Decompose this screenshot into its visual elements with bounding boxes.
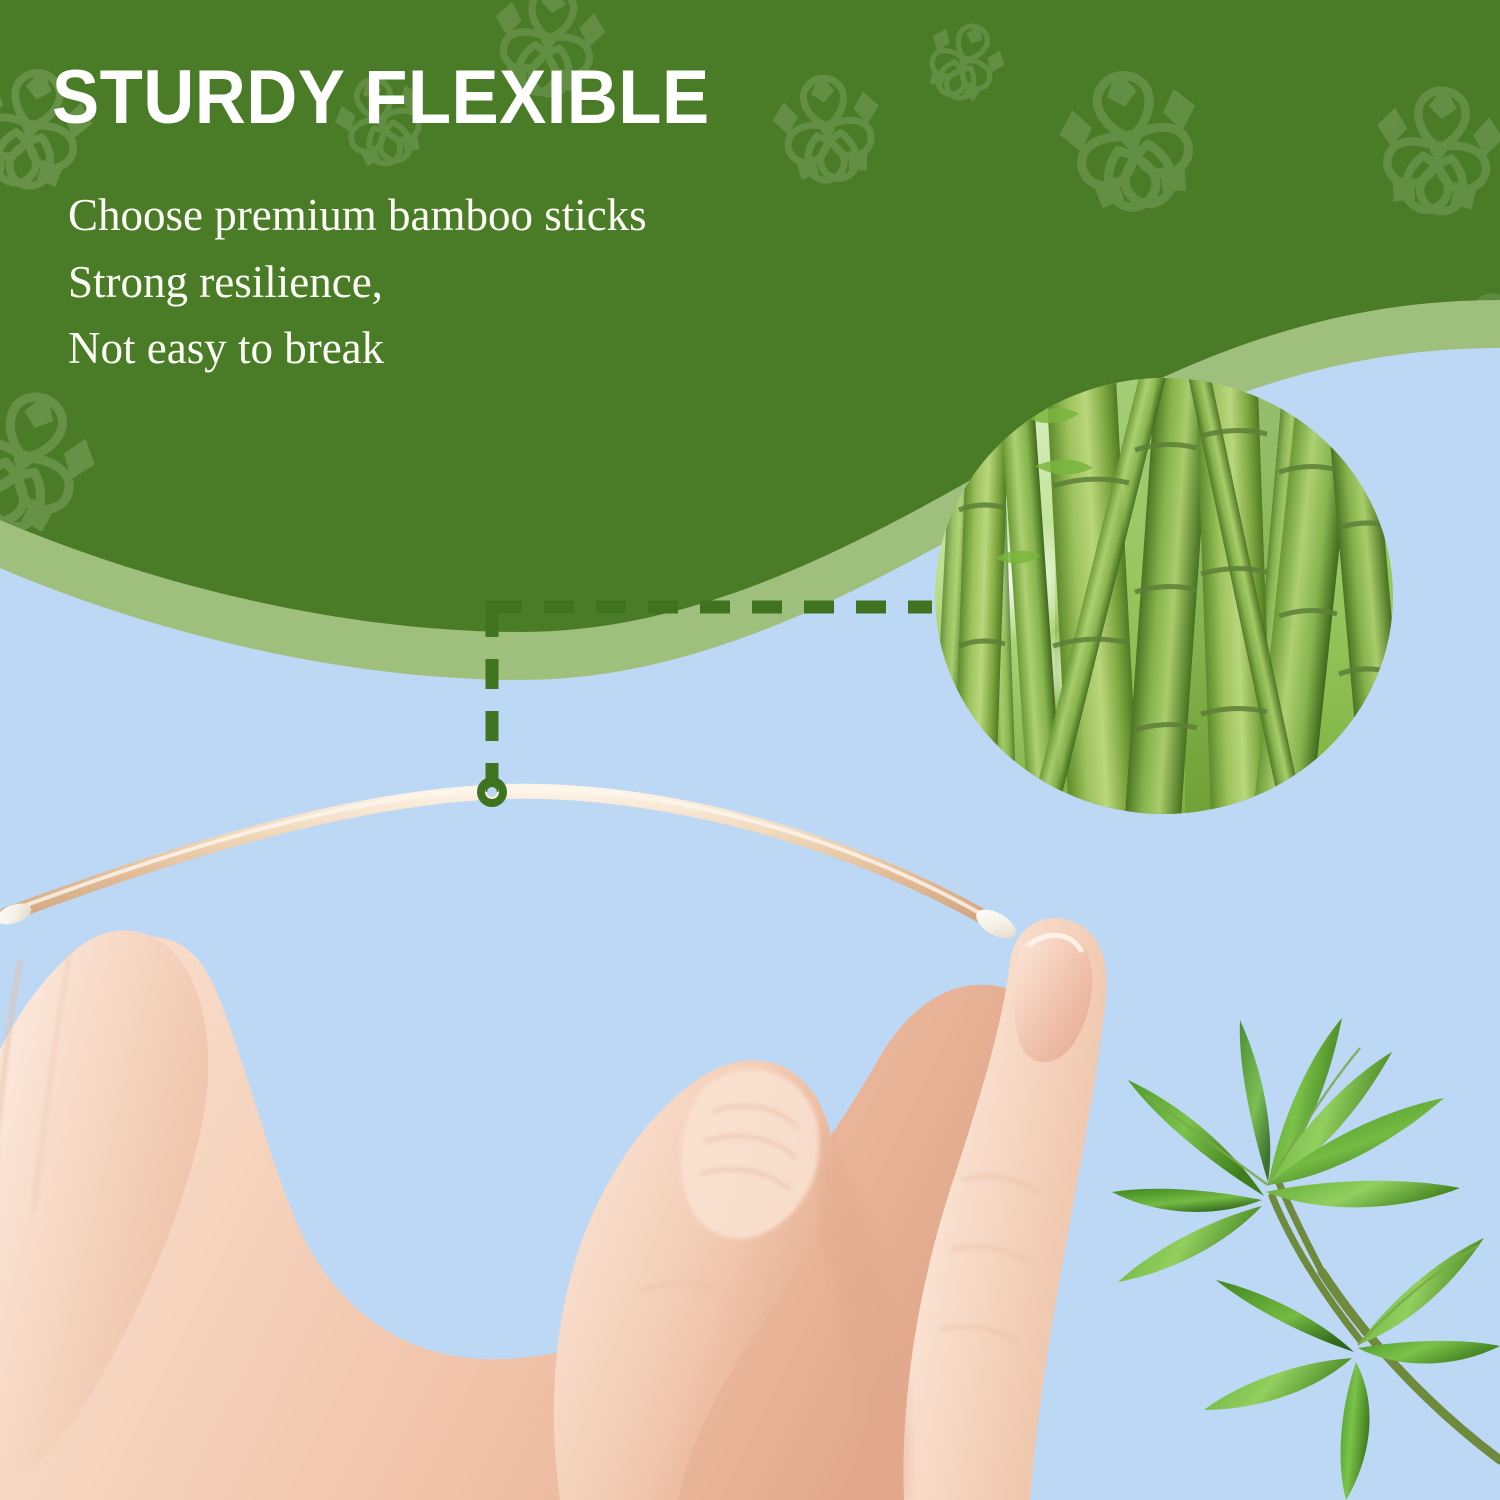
product-infographic: STURDY FLEXIBLE Choose premium bamboo st… xyxy=(0,0,1500,1500)
marker-center xyxy=(487,787,497,797)
stick-highlight-marker xyxy=(0,0,1500,1500)
